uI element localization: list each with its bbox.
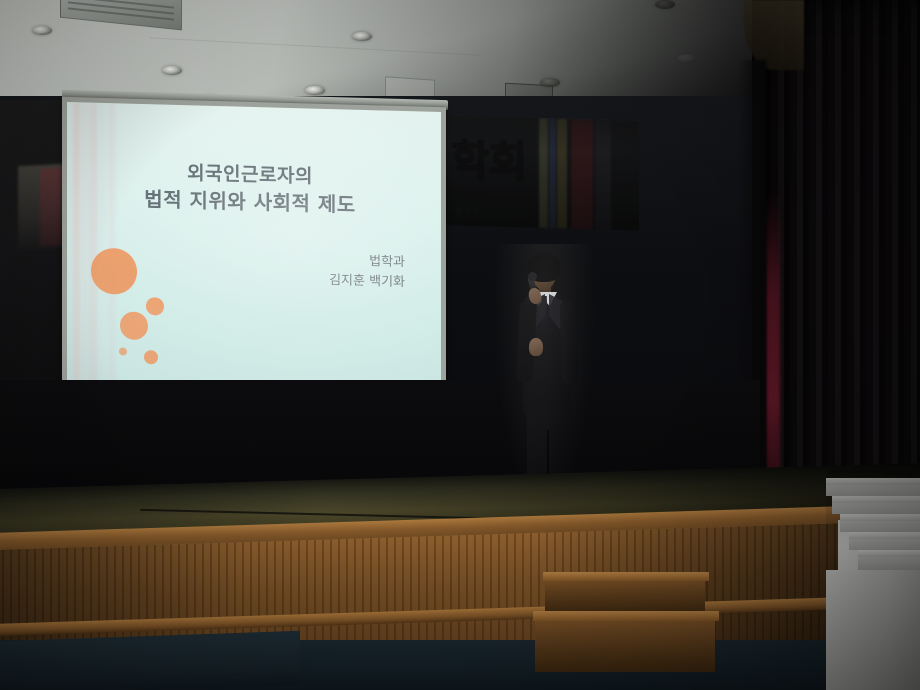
slide-byline-department: 법학과 bbox=[329, 251, 405, 273]
projection-screen: 외국인근로자의 법적 지위와 사회적 제도 법학과 김지훈 백기화 bbox=[62, 97, 446, 401]
slide-left-band bbox=[82, 102, 87, 385]
stair-tread bbox=[840, 514, 920, 521]
slide-decor-circle-tiny bbox=[119, 347, 127, 355]
hall-floor-left bbox=[0, 631, 300, 690]
auditorium-photo: 학회 법학과 외국인근로자의 법적 지위와 사회적 제도 법학과 김지훈 백기화 bbox=[0, 0, 920, 690]
stairs-side-panel bbox=[826, 570, 920, 690]
presenter-hand-lower bbox=[529, 338, 543, 356]
stage-banner: 학회 법학과 bbox=[443, 115, 639, 230]
stage-step-upper bbox=[545, 578, 705, 614]
slide-byline-authors: 김지훈 백기화 bbox=[329, 271, 405, 293]
slide-decor-circle-small bbox=[146, 297, 164, 315]
stair-tread bbox=[832, 496, 920, 503]
slide-left-band bbox=[89, 103, 98, 386]
stage-step-lower-tread bbox=[533, 611, 719, 621]
stair-tread bbox=[826, 478, 920, 485]
slide-decor-circle-small bbox=[144, 350, 158, 364]
stair-riser bbox=[840, 521, 920, 532]
stair-riser bbox=[849, 539, 920, 550]
stair-riser bbox=[858, 557, 920, 570]
slide-decor-circle-large bbox=[91, 248, 137, 295]
projected-slide: 외국인근로자의 법적 지위와 사회적 제도 법학과 김지훈 백기화 bbox=[67, 102, 441, 395]
stage-step-upper-tread bbox=[543, 572, 709, 581]
presenter-arm-right bbox=[560, 300, 579, 385]
stair-riser bbox=[826, 485, 920, 496]
presenter-hair-fringe bbox=[528, 256, 560, 272]
slide-decor-circle-medium bbox=[120, 311, 148, 340]
slide-left-band bbox=[73, 102, 80, 385]
stair-tread bbox=[849, 532, 920, 539]
stair-tread bbox=[858, 550, 920, 557]
slide-title: 외국인근로자의 법적 지위와 사회적 제도 bbox=[67, 158, 433, 221]
right-stairs bbox=[826, 470, 920, 690]
slide-byline: 법학과 김지훈 백기화 bbox=[329, 251, 405, 293]
left-wall-poster-accent bbox=[40, 167, 62, 246]
banner-shadow-overlay bbox=[443, 115, 639, 230]
stage-curtain-accent bbox=[766, 190, 780, 490]
stair-riser bbox=[832, 503, 920, 514]
stage-step-lower bbox=[535, 618, 715, 672]
slide-left-band bbox=[101, 103, 105, 386]
slide-left-band bbox=[108, 103, 115, 386]
